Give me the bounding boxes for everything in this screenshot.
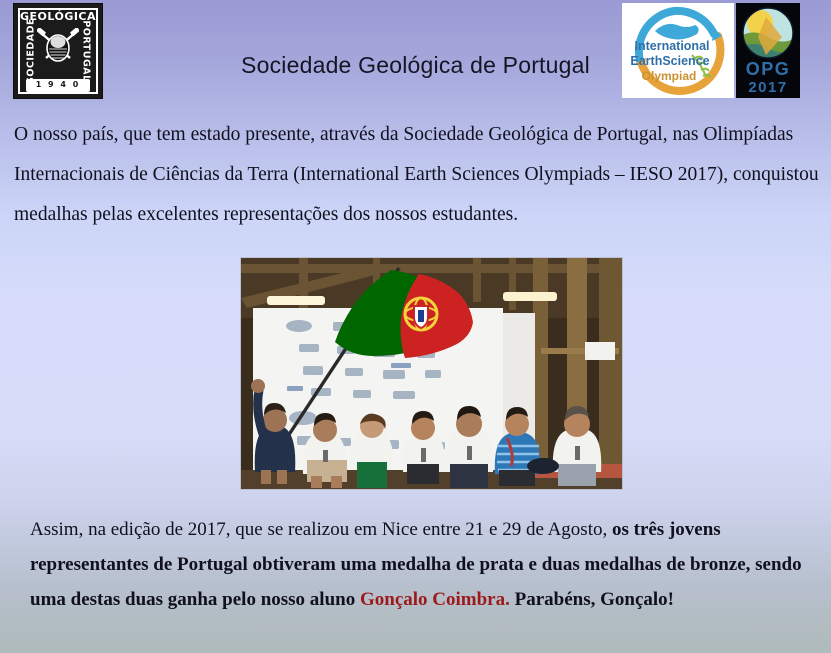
- sgp-seal-icon: GEOLÓGICA SOCIEDADE PORTUGAL: [13, 3, 103, 99]
- opg-emblem-icon: OPG 2017: [736, 3, 800, 98]
- ieso-emblem-icon: International EarthScience Olympiad: [622, 3, 734, 98]
- team-photo: [240, 257, 623, 490]
- opg-line2: 2017: [748, 79, 787, 96]
- student-name-highlight: Gonçalo Coimbra.: [360, 589, 510, 610]
- ieso-line3: Olympiad: [642, 69, 697, 83]
- header: GEOLÓGICA SOCIEDADE PORTUGAL: [0, 0, 831, 104]
- ieso-line2: EarthScience: [630, 54, 709, 68]
- slide-root: GEOLÓGICA SOCIEDADE PORTUGAL: [0, 0, 831, 653]
- intro-paragraph: O nosso país, que tem estado presente, a…: [14, 115, 826, 235]
- closing-regular-text: Assim, na edição de 2017, que se realizo…: [30, 519, 612, 540]
- opg-line1: OPG: [746, 59, 791, 79]
- sgp-year-label: 1 9 4 0: [14, 81, 102, 89]
- congratulations-text: Parabéns, Gonçalo!: [510, 589, 674, 610]
- ieso-line1: International: [634, 39, 709, 53]
- closing-paragraph: Assim, na edição de 2017, que se realizo…: [30, 512, 820, 617]
